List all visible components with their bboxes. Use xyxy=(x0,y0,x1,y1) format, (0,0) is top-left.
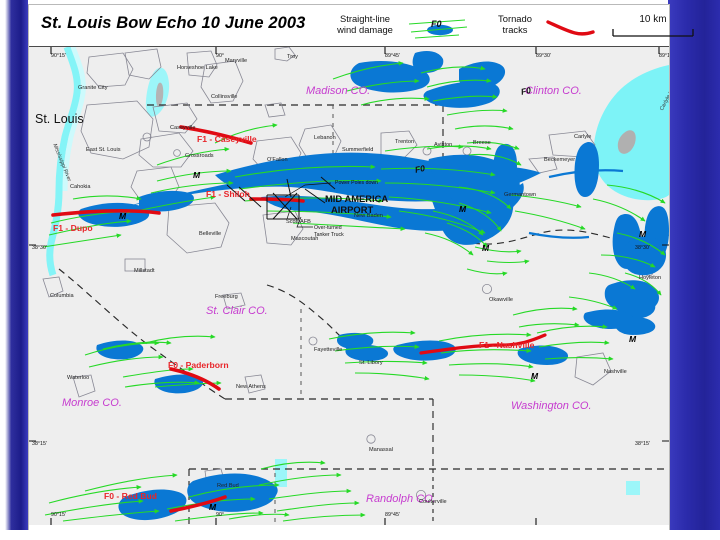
map-canvas: Madison CO.Clinton CO.St. Clair CO.Monro… xyxy=(29,47,669,525)
decorative-bottom-band xyxy=(0,530,720,540)
legend-wind-damage-swatch-icon: F0 xyxy=(407,15,469,41)
decorative-right-band xyxy=(668,0,720,540)
legend-wind-damage-line2: wind damage xyxy=(327,24,403,35)
legend-wind-damage-label: Straight-line wind damage xyxy=(327,13,403,35)
legend-wind-damage-line1: Straight-line xyxy=(327,13,403,24)
legend-tornado-track-icon xyxy=(545,19,595,39)
map-land-base xyxy=(29,47,669,525)
tornado-track-shiloh xyxy=(251,199,303,201)
screenshot-root: St. Louis Bow Echo 10 June 2003 Straight… xyxy=(0,0,720,540)
map-header: St. Louis Bow Echo 10 June 2003 Straight… xyxy=(29,5,669,47)
legend-tornado-label: Tornado tracks xyxy=(487,13,543,35)
map-graphics xyxy=(29,47,669,525)
decorative-left-band xyxy=(0,0,28,540)
poster-page: St. Louis Bow Echo 10 June 2003 Straight… xyxy=(28,4,670,536)
legend-tornado-line1: Tornado xyxy=(487,13,543,24)
page-title: St. Louis Bow Echo 10 June 2003 xyxy=(41,14,305,33)
scale-bar-label: 10 km xyxy=(607,14,699,25)
legend-tornado-line2: tracks xyxy=(487,24,543,35)
legend-fscale-f0: F0 xyxy=(431,19,442,29)
